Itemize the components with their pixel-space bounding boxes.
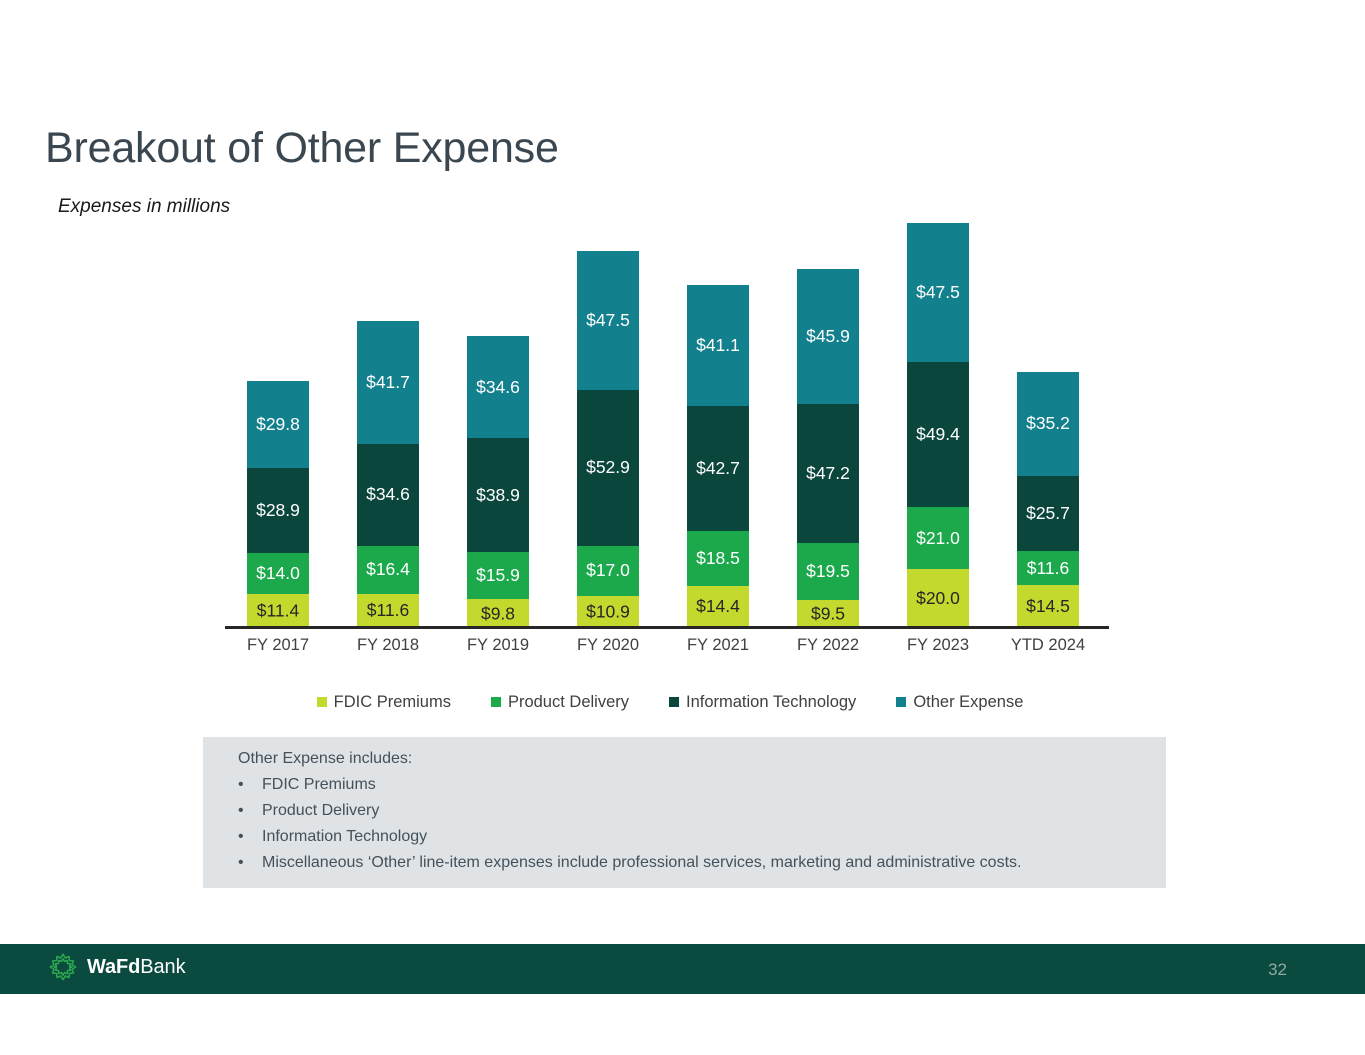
bar-segment-label: $11.6 [367, 602, 410, 620]
page-number: 32 [1268, 960, 1287, 980]
bar-segment[interactable]: $38.9 [467, 438, 529, 552]
x-axis-tick-label: YTD 2024 [988, 636, 1108, 655]
bar-group[interactable]: $35.2$25.7$11.6$14.5 [1017, 372, 1079, 628]
bar-segment[interactable]: $47.2 [797, 404, 859, 543]
bar-segment[interactable]: $21.0 [907, 507, 969, 569]
x-axis-tick-label: FY 2017 [218, 636, 338, 655]
bar-segment[interactable]: $10.9 [577, 596, 639, 628]
bar-segment-label: $19.5 [806, 563, 850, 581]
bar-segment-label: $14.5 [1026, 598, 1070, 616]
bar-segment[interactable]: $34.6 [357, 444, 419, 546]
brand-name-light: Bank [140, 956, 185, 978]
bar-segment-label: $35.2 [1026, 415, 1070, 433]
footnote-item: • Information Technology [238, 828, 427, 846]
legend-item[interactable]: Product Delivery [491, 693, 629, 712]
brand-logo: WaFdBank [48, 952, 185, 982]
bar-segment-label: $21.0 [916, 530, 960, 548]
x-axis-tick-label: FY 2018 [328, 636, 448, 655]
bar-group[interactable]: $47.5$52.9$17.0$10.9 [577, 251, 639, 628]
footnote-item-label: FDIC Premiums [262, 776, 376, 794]
bullet-icon: • [238, 828, 262, 846]
bar-segment-label: $10.9 [586, 603, 630, 621]
bar-segment-label: $16.4 [366, 561, 410, 579]
footnote-item-label: Information Technology [262, 828, 427, 846]
bar-segment-label: $28.9 [256, 502, 300, 520]
stacked-bar-chart: $29.8$28.9$14.0$11.4$41.7$34.6$16.4$11.6… [0, 0, 1365, 720]
footnote-box: Other Expense includes: • FDIC Premiums … [203, 737, 1166, 888]
footnote-item: • FDIC Premiums [238, 776, 376, 794]
bar-segment-label: $34.6 [366, 486, 410, 504]
x-axis-tick-label: FY 2021 [658, 636, 778, 655]
chart-legend: FDIC PremiumsProduct DeliveryInformation… [225, 689, 1115, 715]
bar-segment-label: $49.4 [916, 426, 960, 444]
legend-item[interactable]: Other Expense [896, 693, 1023, 712]
slide-footer: WaFdBank 32 [0, 944, 1365, 994]
bar-segment[interactable]: $20.0 [907, 569, 969, 628]
footnote-item-label: Product Delivery [262, 802, 379, 820]
legend-label: Other Expense [913, 693, 1023, 712]
bar-segment-label: $14.4 [696, 598, 740, 616]
bar-group[interactable]: $47.5$49.4$21.0$20.0 [907, 223, 969, 628]
bar-segment-label: $15.9 [476, 567, 520, 585]
bar-segment-label: $11.4 [257, 602, 300, 620]
bar-segment[interactable]: $16.4 [357, 546, 419, 594]
bar-group[interactable]: $34.6$38.9$15.9$9.8 [467, 336, 529, 628]
bar-segment[interactable]: $18.5 [687, 531, 749, 585]
wafd-wreath-icon [48, 952, 78, 982]
bar-segment-label: $34.6 [476, 379, 520, 397]
legend-swatch-icon [669, 697, 679, 707]
bar-group[interactable]: $45.9$47.2$19.5$9.5 [797, 269, 859, 628]
bar-segment[interactable]: $14.5 [1017, 585, 1079, 628]
bar-group[interactable]: $41.7$34.6$16.4$11.6 [357, 321, 419, 628]
bar-segment-label: $47.2 [806, 465, 850, 483]
slide-canvas: Breakout of Other Expense Expenses in mi… [0, 0, 1365, 1055]
legend-swatch-icon [317, 697, 327, 707]
bar-segment-label: $25.7 [1026, 505, 1070, 523]
bar-segment[interactable]: $41.1 [687, 285, 749, 406]
bullet-icon: • [238, 776, 262, 794]
bar-segment[interactable]: $14.0 [247, 553, 309, 594]
bar-segment-label: $45.9 [806, 328, 850, 346]
bar-segment[interactable]: $47.5 [907, 223, 969, 363]
bar-segment[interactable]: $47.5 [577, 251, 639, 391]
footnote-item-label: Miscellaneous ‘Other’ line-item expenses… [262, 854, 1021, 872]
bar-segment-label: $20.0 [916, 590, 960, 608]
legend-label: FDIC Premiums [334, 693, 451, 712]
bar-segment[interactable]: $25.7 [1017, 476, 1079, 552]
legend-item[interactable]: FDIC Premiums [317, 693, 451, 712]
bar-segment[interactable]: $17.0 [577, 546, 639, 596]
bar-segment-label: $29.8 [256, 416, 300, 434]
bar-segment-label: $17.0 [586, 562, 630, 580]
bar-segment-label: $18.5 [696, 550, 740, 568]
bar-segment[interactable]: $35.2 [1017, 372, 1079, 475]
bar-segment-label: $9.5 [811, 605, 845, 623]
x-axis-tick-label: FY 2020 [548, 636, 668, 655]
legend-swatch-icon [896, 697, 906, 707]
bar-segment[interactable]: $11.6 [1017, 551, 1079, 585]
bar-group[interactable]: $29.8$28.9$14.0$11.4 [247, 381, 309, 628]
bar-segment-label: $14.0 [256, 565, 300, 583]
bar-segment[interactable]: $11.6 [357, 594, 419, 628]
bar-segment[interactable]: $45.9 [797, 269, 859, 404]
bar-segment-label: $41.1 [696, 337, 740, 355]
bullet-icon: • [238, 802, 262, 820]
bar-segment-label: $11.6 [1027, 560, 1070, 578]
legend-item[interactable]: Information Technology [669, 693, 856, 712]
bar-segment-label: $41.7 [366, 374, 410, 392]
footnote-title: Other Expense includes: [238, 750, 412, 768]
bar-segment[interactable]: $42.7 [687, 406, 749, 532]
x-axis-tick-label: FY 2019 [438, 636, 558, 655]
bar-segment[interactable]: $19.5 [797, 543, 859, 600]
bar-segment-label: $52.9 [586, 459, 630, 477]
legend-label: Information Technology [686, 693, 856, 712]
bar-segment[interactable]: $11.4 [247, 594, 309, 628]
bar-segment[interactable]: $34.6 [467, 336, 529, 438]
bar-segment[interactable]: $28.9 [247, 468, 309, 553]
bar-segment-label: $42.7 [696, 460, 740, 478]
bar-group[interactable]: $41.1$42.7$18.5$14.4 [687, 285, 749, 628]
bar-segment[interactable]: $9.8 [467, 599, 529, 628]
bar-segment-label: $47.5 [586, 312, 630, 330]
bar-segment[interactable]: $41.7 [357, 321, 419, 444]
bar-segment[interactable]: $49.4 [907, 362, 969, 507]
bar-segment[interactable]: $29.8 [247, 381, 309, 469]
legend-swatch-icon [491, 697, 501, 707]
chart-plot-area: $29.8$28.9$14.0$11.4$41.7$34.6$16.4$11.6… [225, 200, 1115, 628]
bar-segment-label: $9.8 [481, 605, 515, 623]
bar-segment-label: $38.9 [476, 487, 520, 505]
chart-axis-line [225, 626, 1109, 629]
bar-segment-label: $47.5 [916, 284, 960, 302]
brand-name: WaFdBank [87, 956, 185, 979]
bar-segment[interactable]: $52.9 [577, 390, 639, 546]
x-axis-tick-label: FY 2022 [768, 636, 888, 655]
bar-segment[interactable]: $14.4 [687, 586, 749, 628]
bar-segment[interactable]: $15.9 [467, 552, 529, 599]
x-axis-tick-label: FY 2023 [878, 636, 998, 655]
legend-label: Product Delivery [508, 693, 629, 712]
footnote-item: • Miscellaneous ‘Other’ line-item expens… [238, 854, 1021, 872]
bullet-icon: • [238, 854, 262, 872]
brand-name-bold: WaFd [87, 956, 140, 978]
footnote-item: • Product Delivery [238, 802, 379, 820]
bar-segment[interactable]: $9.5 [797, 600, 859, 628]
